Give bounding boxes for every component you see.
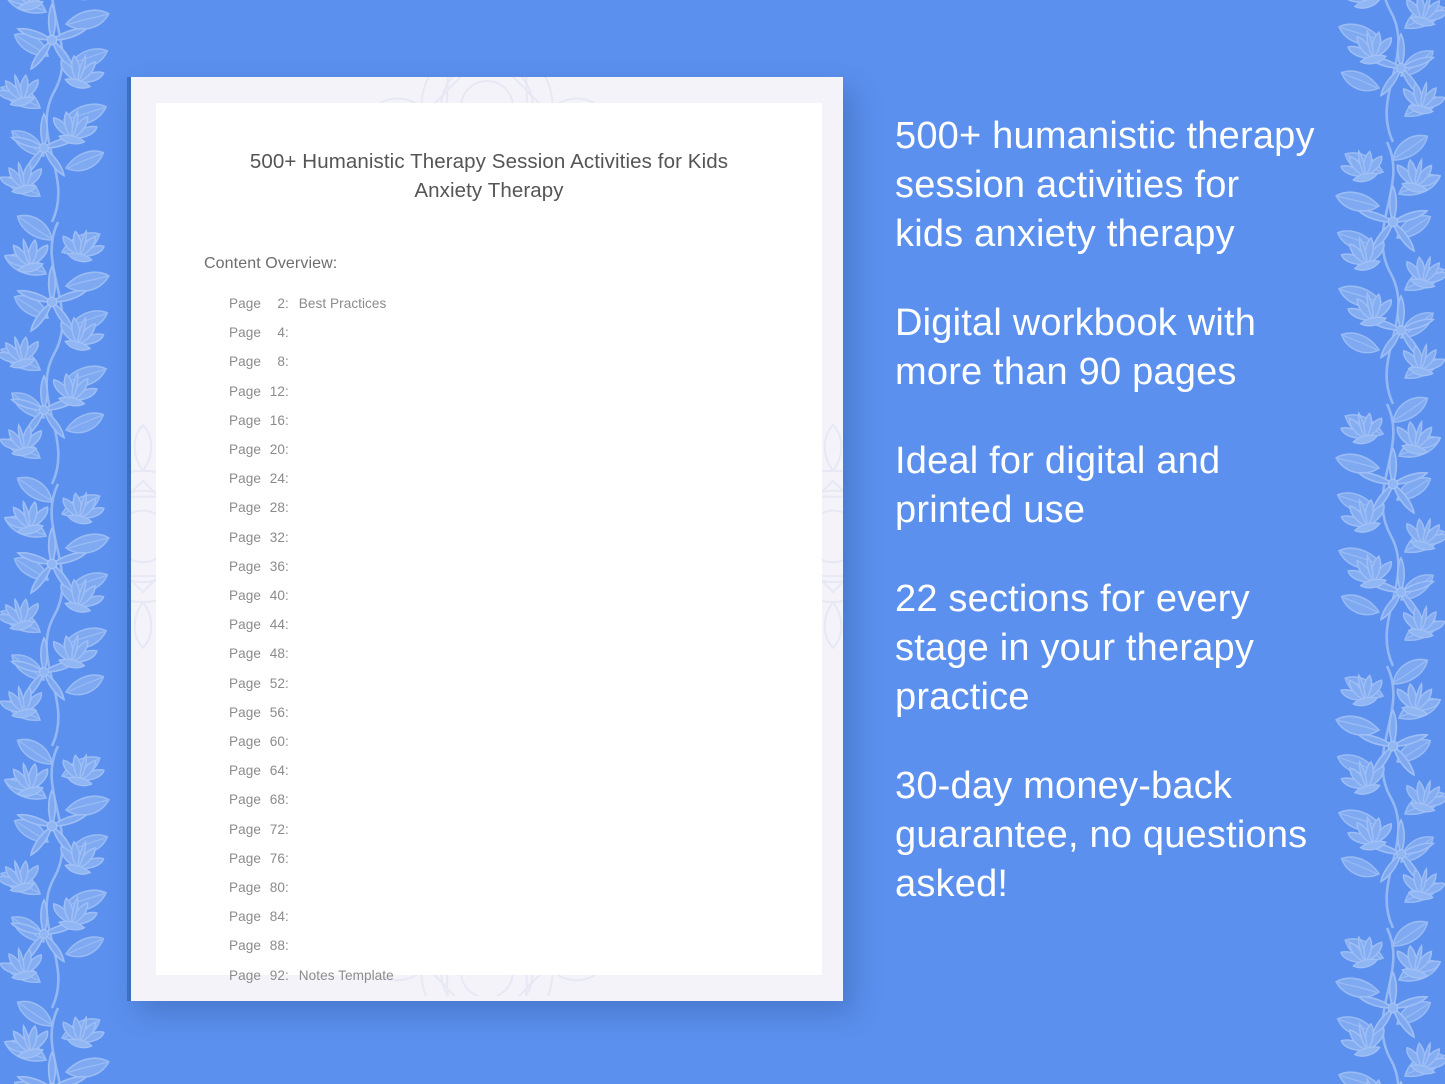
page-section-title	[289, 354, 299, 369]
promo-feature-list: 500+ humanistic therapy session activiti…	[895, 112, 1315, 909]
content-overview-row: Page 48:	[229, 639, 774, 668]
page-section-title	[289, 734, 299, 749]
page-number: 76:	[265, 844, 289, 873]
content-overview-row: Page 88:	[229, 931, 774, 960]
page-word: Page	[229, 851, 261, 866]
page-number: 64:	[265, 756, 289, 785]
content-overview-row: Page 16:	[229, 406, 774, 435]
page-section-title	[289, 763, 299, 778]
document-preview-card[interactable]: 500+ Humanistic Therapy Session Activiti…	[127, 77, 843, 1001]
page-section-title	[289, 822, 299, 837]
content-overview-row: Page 4:	[229, 318, 774, 347]
page-number: 48:	[265, 639, 289, 668]
content-overview-row: Page 60:	[229, 727, 774, 756]
page-number: 56:	[265, 698, 289, 727]
page-section-title	[289, 851, 299, 866]
content-overview-row: Page 72:	[229, 815, 774, 844]
right-floral-border	[1319, 0, 1445, 1084]
page-number: 52:	[265, 669, 289, 698]
page-word: Page	[229, 705, 261, 720]
content-overview-row: Page 36:	[229, 552, 774, 581]
page-section-title	[289, 646, 299, 661]
page-section-title	[289, 442, 299, 457]
document-page: 500+ Humanistic Therapy Session Activiti…	[156, 103, 822, 975]
page-section-title	[289, 705, 299, 720]
page-number: 40:	[265, 581, 289, 610]
page-word: Page	[229, 880, 261, 895]
page-number: 60:	[265, 727, 289, 756]
page-number: 24:	[265, 464, 289, 493]
page-word: Page	[229, 646, 261, 661]
page-section-title	[289, 559, 299, 574]
page-word: Page	[229, 676, 261, 691]
page-section-title	[289, 530, 299, 545]
content-overview-row: Page 64:	[229, 756, 774, 785]
content-overview-row: Page 68:	[229, 785, 774, 814]
page-word: Page	[229, 938, 261, 953]
page-section-title: Best Practices	[289, 296, 387, 311]
content-overview-row: Page 56:	[229, 698, 774, 727]
page-word: Page	[229, 617, 261, 632]
content-overview-row: Page 76:	[229, 844, 774, 873]
content-overview-row: Page 44:	[229, 610, 774, 639]
page-number: 92:	[265, 961, 289, 990]
page-word: Page	[229, 413, 261, 428]
page-section-title	[289, 938, 299, 953]
page-word: Page	[229, 559, 261, 574]
page-section-title	[289, 384, 299, 399]
page-word: Page	[229, 822, 261, 837]
content-overview-row: Page 52:	[229, 669, 774, 698]
page-number: 72:	[265, 815, 289, 844]
page-word: Page	[229, 325, 261, 340]
page-word: Page	[229, 588, 261, 603]
page-number: 4:	[265, 318, 289, 347]
page-number: 80:	[265, 873, 289, 902]
page-number: 28:	[265, 493, 289, 522]
page-number: 12:	[265, 377, 289, 406]
content-overview-row: Page 84:	[229, 902, 774, 931]
content-overview-row: Page 12:	[229, 377, 774, 406]
page-section-title	[289, 792, 299, 807]
page-number: 84:	[265, 902, 289, 931]
page-section-title: Notes Template	[289, 968, 394, 983]
content-overview-row: Page 32:	[229, 523, 774, 552]
page-section-title	[289, 617, 299, 632]
document-title: 500+ Humanistic Therapy Session Activiti…	[204, 147, 774, 205]
page-number: 88:	[265, 931, 289, 960]
page-word: Page	[229, 763, 261, 778]
page-section-title	[289, 471, 299, 486]
page-word: Page	[229, 442, 261, 457]
promo-item: 30-day money-back guarantee, no question…	[895, 762, 1315, 909]
page-word: Page	[229, 296, 261, 311]
page-word: Page	[229, 792, 261, 807]
content-overview-label: Content Overview:	[204, 255, 774, 273]
page-section-title	[289, 413, 299, 428]
page-number: 32:	[265, 523, 289, 552]
page-word: Page	[229, 384, 261, 399]
page-number: 16:	[265, 406, 289, 435]
page-word: Page	[229, 500, 261, 515]
content-overview-row: Page 2:Best Practices	[229, 289, 774, 318]
content-overview-row: Page 40:	[229, 581, 774, 610]
page-section-title	[289, 588, 299, 603]
promo-item: Digital workbook with more than 90 pages	[895, 299, 1315, 397]
page-word: Page	[229, 968, 261, 983]
content-overview-row: Page 24:	[229, 464, 774, 493]
page-word: Page	[229, 734, 261, 749]
page-section-title	[289, 909, 299, 924]
page-number: 2:	[265, 289, 289, 318]
content-overview-list: Page 2:Best PracticesPage 4:Page 8:Page …	[204, 289, 774, 990]
page-word: Page	[229, 530, 261, 545]
promo-item: 22 sections for every stage in your ther…	[895, 575, 1315, 722]
page-section-title	[289, 880, 299, 895]
left-floral-border	[0, 0, 126, 1084]
content-overview-row: Page 80:	[229, 873, 774, 902]
promo-item: 500+ humanistic therapy session activiti…	[895, 112, 1315, 259]
content-overview-row: Page 20:	[229, 435, 774, 464]
page-number: 8:	[265, 347, 289, 376]
page-number: 44:	[265, 610, 289, 639]
content-overview-row: Page 28:	[229, 493, 774, 522]
page-section-title	[289, 500, 299, 515]
page-word: Page	[229, 909, 261, 924]
page-word: Page	[229, 471, 261, 486]
promo-item: Ideal for digital and printed use	[895, 437, 1315, 535]
page-number: 68:	[265, 785, 289, 814]
page-number: 36:	[265, 552, 289, 581]
content-overview-row: Page 8:	[229, 347, 774, 376]
content-overview-row: Page 92:Notes Template	[229, 961, 774, 990]
page-section-title	[289, 676, 299, 691]
page-word: Page	[229, 354, 261, 369]
page-number: 20:	[265, 435, 289, 464]
page-section-title	[289, 325, 299, 340]
